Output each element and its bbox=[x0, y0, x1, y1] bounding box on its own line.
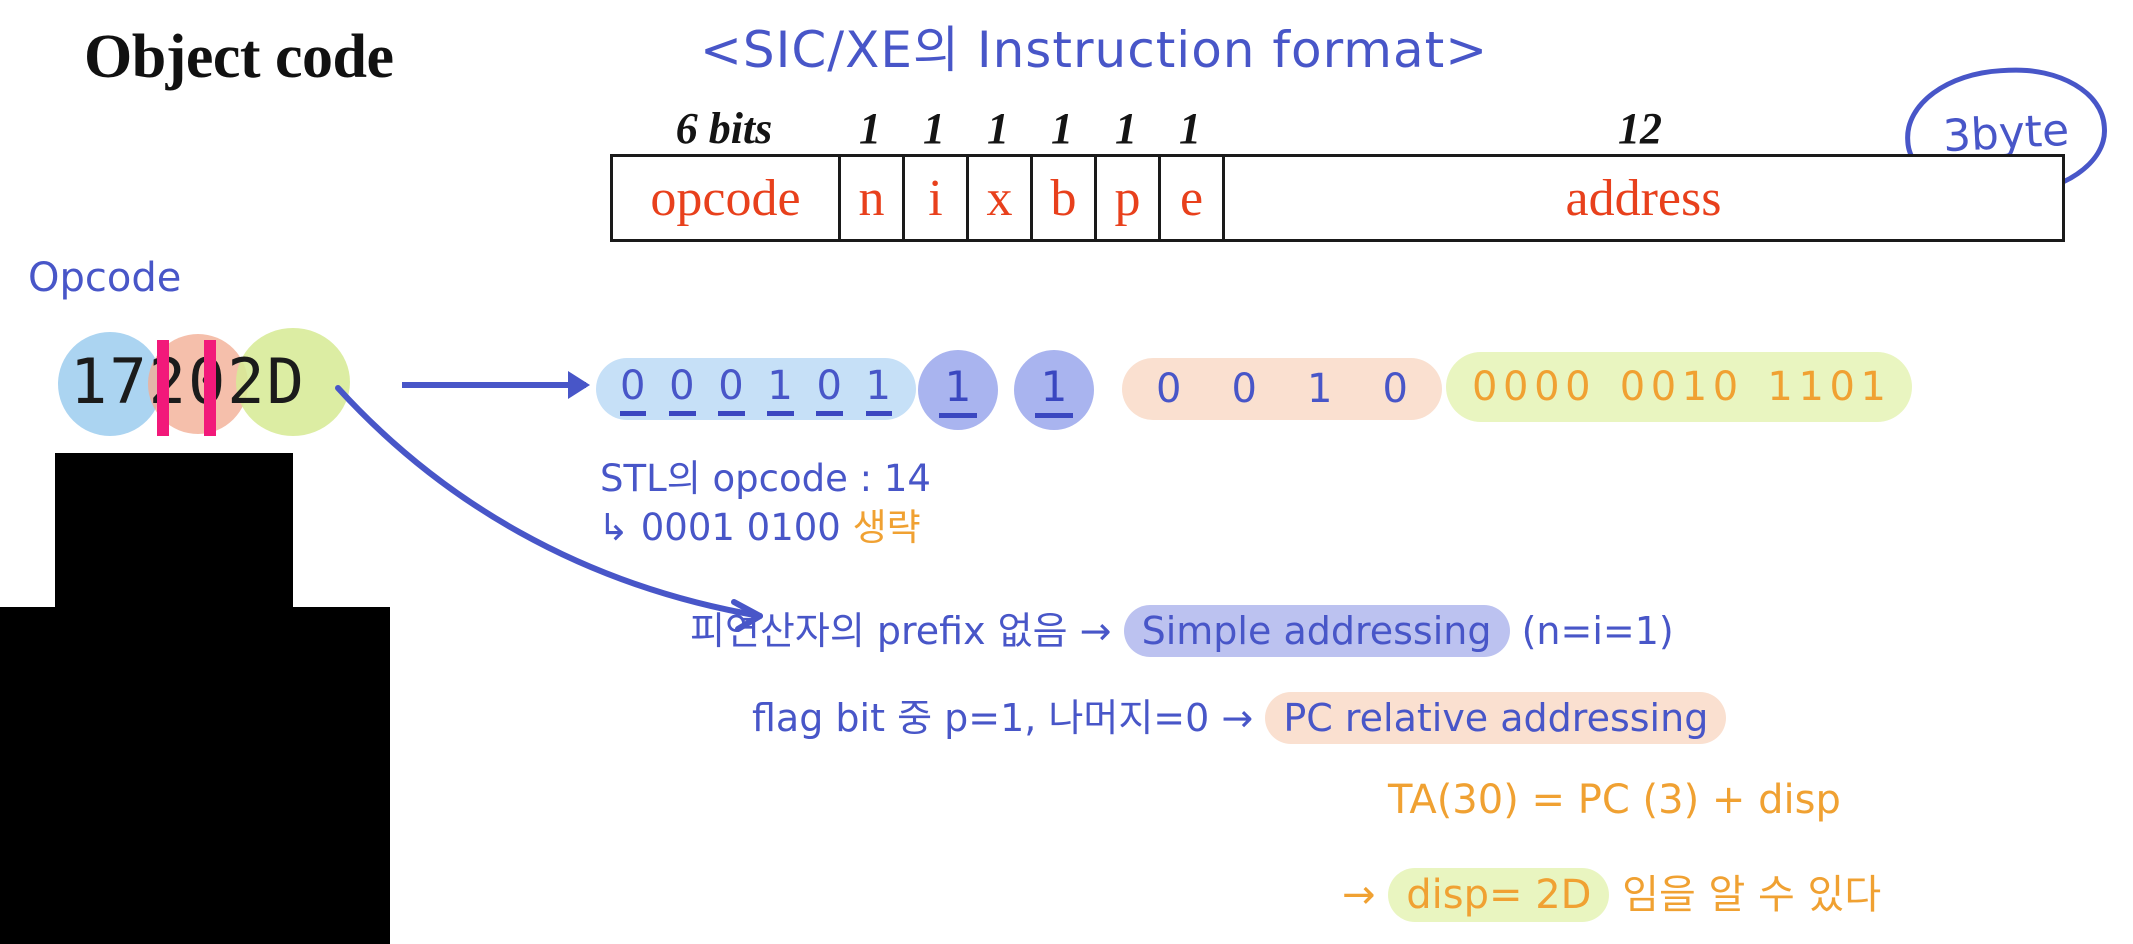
field-n: n bbox=[841, 157, 905, 239]
address-bit-1: 0 bbox=[1503, 364, 1528, 410]
field-i: i bbox=[905, 157, 969, 239]
marker-bar-left bbox=[157, 340, 169, 436]
note-simple-addressing-prefix: 피연산자의 prefix 없음 → bbox=[690, 609, 1112, 653]
note-simple-addressing-suffix: (n=i=1) bbox=[1522, 609, 1674, 653]
field-b: b bbox=[1033, 157, 1097, 239]
note-stl-binary: ↳ 0001 0100 생략 bbox=[598, 497, 921, 551]
bit-label-b: 1 bbox=[1051, 103, 1073, 154]
bit-label-e: 1 bbox=[1179, 103, 1201, 154]
note-disp-suffix: 임을 알 수 있다 bbox=[1622, 872, 1881, 918]
address-bit-6: 1 bbox=[1682, 364, 1707, 410]
decoded-address-bits: 0 0 0 0 0 0 1 0 1 1 0 1 bbox=[1446, 352, 1912, 422]
address-bit-3: 0 bbox=[1565, 364, 1590, 410]
opcode-bit-0: 0 bbox=[620, 363, 646, 416]
opcode-bit-5: 1 bbox=[866, 363, 892, 416]
decoded-i-bit: 1 bbox=[1014, 350, 1094, 430]
opcode-annotation-label: Opcode bbox=[28, 255, 181, 301]
note-simple-addressing-highlight: Simple addressing bbox=[1124, 605, 1510, 657]
field-x: x bbox=[969, 157, 1033, 239]
flag-bit-b: 0 bbox=[1232, 366, 1257, 412]
flag-bit-p: 1 bbox=[1307, 366, 1332, 412]
opcode-bit-1: 0 bbox=[669, 363, 695, 416]
opcode-bit-4: 0 bbox=[816, 363, 842, 416]
bit-label-opcode: 6 bits bbox=[676, 103, 773, 154]
address-bit-0: 0 bbox=[1472, 364, 1497, 410]
bit-label-x: 1 bbox=[987, 103, 1009, 154]
bit-label-i: 1 bbox=[923, 103, 945, 154]
note-target-address-equation: TA(30) = PC (3) + disp bbox=[1388, 777, 1841, 823]
opcode-bit-2: 0 bbox=[718, 363, 744, 416]
opcode-bit-3: 1 bbox=[767, 363, 793, 416]
decoded-flag-bits: 0 0 1 0 bbox=[1122, 358, 1442, 420]
field-e: e bbox=[1161, 157, 1225, 239]
note-stl-binary-prefix: ↳ 0001 0100 bbox=[598, 506, 841, 549]
slide-canvas: Object code <SIC/XE의 Instruction format>… bbox=[0, 0, 2133, 944]
note-disp-highlight: disp= 2D bbox=[1388, 868, 1609, 922]
address-bit-4: 0 bbox=[1620, 364, 1645, 410]
format-field-row: opcode n i x b p e address bbox=[610, 154, 2065, 242]
note-pc-relative: flag bit 중 p=1, 나머지=0 → PC relative addr… bbox=[752, 687, 1726, 742]
note-simple-addressing: 피연산자의 prefix 없음 → Simple addressing (n=i… bbox=[690, 600, 1674, 655]
note-disp-conclusion: → disp= 2D 임을 알 수 있다 bbox=[1342, 862, 1881, 920]
i-bit-value: 1 bbox=[1035, 362, 1074, 418]
note-pc-relative-prefix: flag bit 중 p=1, 나머지=0 → bbox=[752, 696, 1253, 740]
address-bit-9: 1 bbox=[1798, 364, 1823, 410]
address-bit-2: 0 bbox=[1534, 364, 1559, 410]
address-bit-5: 0 bbox=[1651, 364, 1676, 410]
bit-label-n: 1 bbox=[859, 103, 881, 154]
address-bit-10: 0 bbox=[1829, 364, 1854, 410]
handwritten-header-note: <SIC/XE의 Instruction format> bbox=[700, 10, 1488, 82]
address-bit-8: 1 bbox=[1767, 364, 1792, 410]
address-bit-7: 0 bbox=[1713, 364, 1738, 410]
note-pc-relative-highlight: PC relative addressing bbox=[1265, 692, 1726, 744]
field-p: p bbox=[1097, 157, 1161, 239]
note-disp-arrow: → bbox=[1342, 872, 1376, 918]
flag-bit-x: 0 bbox=[1156, 366, 1181, 412]
field-address: address bbox=[1225, 157, 2062, 239]
decoded-opcode-bits: 0 0 0 1 0 1 bbox=[596, 358, 916, 420]
bit-label-address: 12 bbox=[1618, 103, 1662, 154]
n-bit-value: 1 bbox=[939, 362, 978, 418]
page-title: Object code bbox=[84, 22, 394, 93]
marker-bar-right bbox=[204, 340, 216, 436]
instruction-format-table: 6 bits 1 1 1 1 1 1 12 opcode n i x b p e… bbox=[610, 100, 2065, 242]
note-stl-binary-suffix: 생략 bbox=[853, 506, 921, 549]
field-opcode: opcode bbox=[613, 157, 841, 239]
flag-bit-e: 0 bbox=[1383, 366, 1408, 412]
object-code-value: 17202D bbox=[70, 345, 306, 418]
address-bit-11: 1 bbox=[1861, 364, 1886, 410]
note-stl-opcode: STL의 opcode : 14 bbox=[600, 448, 931, 502]
occlusion-block-lower bbox=[0, 607, 390, 944]
bit-width-labels: 6 bits 1 1 1 1 1 1 12 bbox=[610, 100, 2065, 154]
bit-label-p: 1 bbox=[1115, 103, 1137, 154]
decoded-n-bit: 1 bbox=[918, 350, 998, 430]
